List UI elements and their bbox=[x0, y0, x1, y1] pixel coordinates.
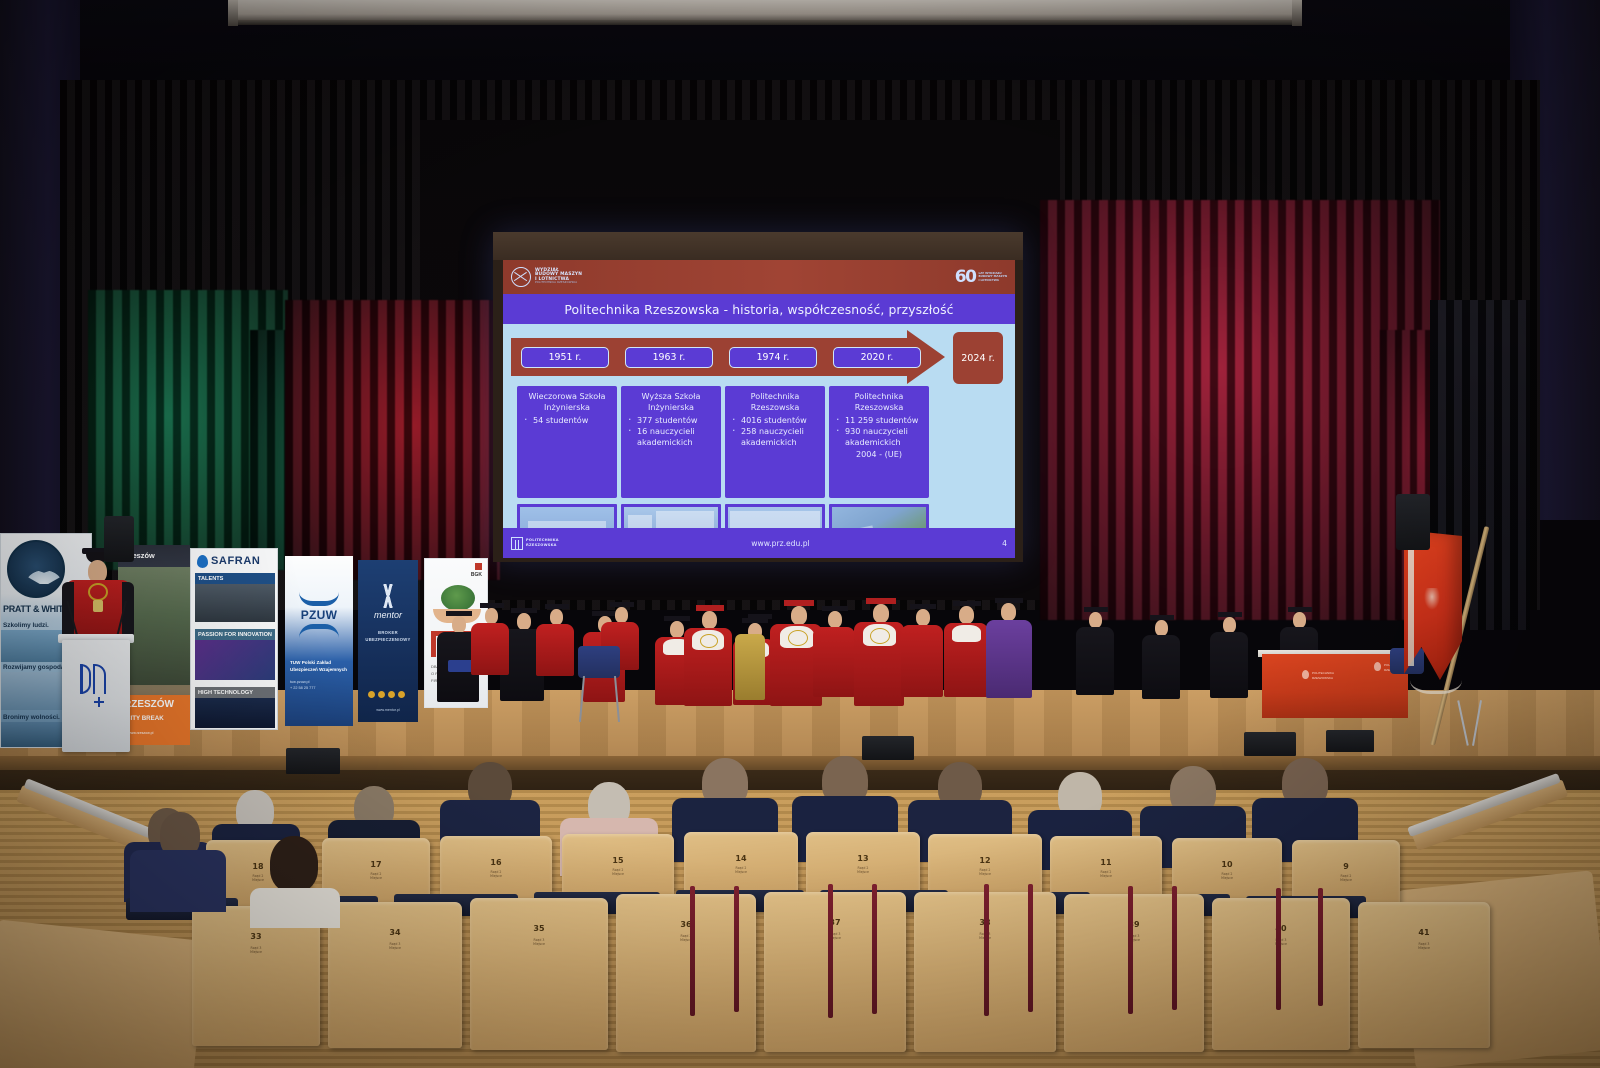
bgk-square-icon bbox=[475, 563, 482, 570]
pzuw-arc-top-icon bbox=[299, 592, 339, 606]
prz-logo-p bbox=[80, 664, 91, 694]
seat-39[interactable]: 39 Rząd 3Miejsce bbox=[1064, 894, 1204, 1052]
stage-monitor-4 bbox=[1326, 730, 1374, 752]
stage-speaker-column bbox=[104, 516, 134, 562]
timeline-box-1-title: Wieczorowa SzkołaInżynierska bbox=[521, 391, 613, 412]
seat-sub-label: Rząd 2Miejsce bbox=[1050, 870, 1162, 878]
timeline-year-1951: 1951 r. bbox=[521, 347, 609, 368]
seat-sash bbox=[1276, 888, 1281, 1010]
audience-body-ponytail bbox=[250, 888, 340, 928]
safran-caption-1: TALENTS bbox=[195, 573, 275, 584]
timeline-box-2: Wyższa SzkołaInżynierska 377 studentów 1… bbox=[621, 386, 721, 498]
slide-footer-url: www.prz.edu.pl bbox=[559, 539, 1002, 548]
stage-curtain-red-left bbox=[285, 300, 500, 580]
seat-number: 13 bbox=[806, 854, 920, 863]
seat-sash bbox=[1318, 888, 1323, 1006]
list-item: 258 nauczycieli akademickich bbox=[729, 426, 821, 448]
pratt-whitney-line-3: Bronimy wolności. bbox=[3, 714, 60, 721]
projection-screen-top-bar bbox=[493, 232, 1023, 260]
university-logo-text: POLITECHNIKA RZESZOWSKA bbox=[526, 538, 559, 548]
seat-sub-label: Rząd 3Miejsce bbox=[470, 938, 608, 946]
seat-number: 35 bbox=[470, 924, 608, 933]
timeline-year-1974: 1974 r. bbox=[729, 347, 817, 368]
timeline-year-2024: 2024 r. bbox=[953, 332, 1003, 384]
seated-dignitary-yellow-robe bbox=[735, 634, 765, 700]
chain-of-office-medallion bbox=[93, 600, 103, 612]
ceiling-slot-right bbox=[1292, 0, 1302, 26]
stage-monitor-3 bbox=[1244, 732, 1296, 756]
stage-table-cloth: POLITECHNIKARZESZOWSKA POLITECHNIKARZESZ… bbox=[1262, 654, 1408, 718]
seat-number: 41 bbox=[1358, 928, 1490, 937]
banner-pzuw: PZUW TUW Polski ZakładUbezpieczeń Wzajem… bbox=[285, 556, 353, 726]
seat-number: 15 bbox=[562, 856, 674, 865]
seat-number: 14 bbox=[684, 854, 798, 863]
facebook-icon bbox=[368, 691, 375, 698]
slide-page-number: 4 bbox=[1002, 539, 1007, 548]
tree-icon bbox=[441, 585, 475, 611]
seat-sub-label: Rząd 2Miejsce bbox=[322, 872, 430, 880]
slide-body: 1951 r. 1963 r. 1974 r. 2020 r. 2024 r. … bbox=[503, 324, 1015, 558]
safran-caption-2: PASSION FOR INNOVATION bbox=[195, 629, 275, 640]
seat-sub-label: Rząd 2Miejsce bbox=[928, 868, 1042, 876]
timeline-box-3: PolitechnikaRzeszowska 4016 studentów 25… bbox=[725, 386, 825, 498]
timeline-year-1963: 1963 r. bbox=[625, 347, 713, 368]
seat-sash bbox=[1172, 886, 1177, 1010]
linkedin-icon bbox=[378, 691, 385, 698]
stage-monitor-1 bbox=[286, 748, 340, 774]
youtube-icon bbox=[388, 691, 395, 698]
presentation-slide: WYDZIAŁ BUDOWY MASZYN I LOTNICTWA POLITE… bbox=[503, 260, 1015, 558]
prz-logo-cross bbox=[94, 697, 104, 707]
seat-number: 9 bbox=[1292, 862, 1400, 871]
safran-image-2 bbox=[195, 640, 275, 680]
list-item: 930 nauczycieli akademickich bbox=[833, 426, 925, 448]
seat-37[interactable]: 37 Rząd 3Miejsce bbox=[764, 892, 906, 1052]
timeline-box-3-title: PolitechnikaRzeszowska bbox=[729, 391, 821, 412]
prz-logo-r bbox=[93, 664, 106, 694]
slide-footer: POLITECHNIKA RZESZOWSKA www.prz.edu.pl 4 bbox=[503, 528, 1015, 558]
list-item: 377 studentów bbox=[625, 415, 717, 426]
university-logo: POLITECHNIKA RZESZOWSKA bbox=[511, 537, 559, 550]
prz-logo-icon bbox=[80, 664, 110, 710]
seat-number: 37 bbox=[764, 918, 906, 927]
banner-mentor: mentor BROKERUBEZPIECZENIOWY www.mentor.… bbox=[358, 560, 418, 722]
seat-sub-label: Rząd 2Miejsce bbox=[562, 868, 674, 876]
side-panel-left bbox=[0, 919, 207, 1068]
banner-safran: SAFRAN TALENTS PASSION FOR INNOVATION HI… bbox=[190, 548, 278, 730]
chain-of-office bbox=[788, 630, 808, 646]
flag-stand bbox=[1462, 700, 1502, 746]
slide-title: Politechnika Rzeszowska - historia, wspó… bbox=[503, 294, 1015, 324]
timeline-box-2-title: Wyższa SzkołaInżynierska bbox=[625, 391, 717, 412]
auditorium-scene: WYDZIAŁ BUDOWY MASZYN I LOTNICTWA POLITE… bbox=[0, 0, 1600, 1068]
timeline-box-4-title: PolitechnikaRzeszowska bbox=[833, 391, 925, 412]
safran-image-3 bbox=[195, 698, 275, 728]
seat-sub-label: Rząd 3Miejsce bbox=[192, 946, 320, 954]
seat-sub-label: Rząd 3Miejsce bbox=[328, 942, 462, 950]
pratt-whitney-emblem-icon bbox=[7, 540, 65, 598]
seat-number: 34 bbox=[328, 928, 462, 937]
safran-brand: SAFRAN bbox=[211, 555, 260, 567]
list-item: 54 studentów bbox=[521, 415, 613, 426]
seat-40[interactable]: 40 Rząd 3Miejsce bbox=[1212, 898, 1350, 1050]
anniversary-line-3: I LOTNICTWA bbox=[978, 279, 1007, 282]
seat-sash bbox=[872, 884, 877, 1014]
slide-header: WYDZIAŁ BUDOWY MASZYN I LOTNICTWA POLITE… bbox=[503, 260, 1015, 294]
pzuw-brand: PZUW bbox=[285, 608, 353, 622]
mentor-url: www.mentor.pl bbox=[358, 708, 418, 712]
mentor-mark-icon bbox=[372, 584, 404, 608]
stage-speaker-column-right bbox=[1396, 494, 1430, 550]
seat-sash bbox=[984, 884, 989, 1016]
ceiling-valance bbox=[236, 0, 1296, 22]
list-item: 11 259 studentów bbox=[833, 415, 925, 426]
flag-trim bbox=[1408, 534, 1414, 666]
pzuw-description: TUW Polski ZakładUbezpieczeń Wzajemnych bbox=[290, 660, 347, 674]
seat-41[interactable]: 41 Rząd 3Miejsce bbox=[1358, 902, 1490, 1048]
seat-sash bbox=[734, 886, 739, 1012]
instagram-icon bbox=[398, 691, 405, 698]
audience-body-foreground bbox=[130, 850, 226, 912]
ceiling-valance-edge bbox=[236, 20, 1296, 25]
seat-sash bbox=[1028, 884, 1033, 1012]
chain-of-office bbox=[700, 634, 718, 648]
seat-sub-label: Rząd 3Miejsce bbox=[1212, 938, 1350, 946]
stage-monitor-2 bbox=[862, 736, 914, 760]
anniversary-text: LAT WYDZIAŁU BUDOWY MASZYN I LOTNICTWA bbox=[978, 272, 1007, 282]
rzeszow-band-title: RZESZÓW bbox=[124, 699, 174, 710]
list-item: 16 nauczycieli akademickich bbox=[625, 426, 717, 448]
flag-fringe bbox=[1410, 660, 1462, 694]
pratt-whitney-line-1: Szkolimy ludzi. bbox=[3, 622, 49, 629]
faculty-sub: POLITECHNIKA RZESZOWSKA bbox=[535, 282, 582, 285]
faculty-emblem-icon bbox=[511, 267, 531, 287]
seat-number: 12 bbox=[928, 856, 1042, 865]
timeline-box-1-list: 54 studentów bbox=[521, 415, 613, 426]
podium bbox=[62, 640, 130, 752]
bgk-brand: BGK bbox=[471, 572, 482, 578]
mentor-sub: BROKERUBEZPIECZENIOWY bbox=[358, 630, 418, 643]
pzuw-contact: tuw.pzuw.pl+ 22 58 25 777 bbox=[290, 680, 315, 691]
seat-sub-label: Rząd 2Miejsce bbox=[1292, 874, 1400, 882]
bgk-accent-bar-vertical bbox=[431, 631, 436, 657]
seat-35[interactable]: 35 Rząd 3Miejsce bbox=[470, 898, 608, 1050]
ceiling-slot-left bbox=[228, 0, 238, 26]
university-line-2: RZESZOWSKA bbox=[526, 543, 559, 548]
seat-sub-label: Rząd 3Miejsce bbox=[764, 932, 906, 940]
seat-sub-label: Rząd 2Miejsce bbox=[1172, 872, 1282, 880]
seat-number: 17 bbox=[322, 860, 430, 869]
seat-sub-label: Rząd 2Miejsce bbox=[440, 870, 552, 878]
seat-sub-label: Rząd 2Miejsce bbox=[806, 866, 920, 874]
mentor-social-icons bbox=[368, 691, 405, 698]
chain-of-office bbox=[88, 583, 108, 601]
seat-sub-label: Rząd 3Miejsce bbox=[1358, 942, 1490, 950]
seat-sub-label: Rząd 3Miejsce bbox=[1064, 934, 1204, 942]
seat-number: 33 bbox=[192, 932, 320, 941]
list-item: 4016 studentów bbox=[729, 415, 821, 426]
timeline-box-4: PolitechnikaRzeszowska 11 259 studentów … bbox=[829, 386, 929, 498]
faculty-logo-text: WYDZIAŁ BUDOWY MASZYN I LOTNICTWA POLITE… bbox=[535, 269, 582, 285]
safran-mark-icon bbox=[197, 555, 208, 568]
speaker-robe-sleeve-left bbox=[62, 582, 74, 640]
seat-number: 11 bbox=[1050, 858, 1162, 867]
seat-number: 16 bbox=[440, 858, 552, 867]
mentor-brand: mentor bbox=[358, 610, 418, 620]
seat-sash bbox=[828, 884, 833, 1018]
timeline-box-3-list: 4016 studentów 258 nauczycieli akademick… bbox=[729, 415, 821, 448]
seat-sash bbox=[690, 886, 695, 1016]
seat-number: 39 bbox=[1064, 920, 1204, 929]
audience-head-ponytail bbox=[270, 836, 318, 892]
anniversary-logo: 60 LAT WYDZIAŁU BUDOWY MASZYN I LOTNICTW… bbox=[955, 267, 1007, 287]
safran-caption-3: HIGH TECHNOLOGY bbox=[195, 687, 275, 698]
empty-chair-center bbox=[578, 646, 620, 678]
faculty-logo: WYDZIAŁ BUDOWY MASZYN I LOTNICTWA POLITE… bbox=[511, 267, 582, 287]
seated-dignitary-9-robe bbox=[986, 620, 1032, 698]
chain-of-office bbox=[870, 628, 890, 644]
rzeszow-band-sub: CITY BREAK bbox=[126, 715, 164, 722]
flag-emblem-icon bbox=[1424, 588, 1440, 610]
pzuw-arc-bottom-icon bbox=[299, 624, 339, 638]
timeline-box-4-note: 2004 - (UE) bbox=[833, 449, 925, 459]
timeline-box-2-list: 377 studentów 16 nauczycieli akademickic… bbox=[625, 415, 717, 448]
seat-sub-label: Rząd 2Miejsce bbox=[684, 866, 798, 874]
seat-34[interactable]: 34 Rząd 3Miejsce bbox=[328, 902, 462, 1048]
eagle-icon bbox=[23, 568, 65, 584]
university-emblem-icon bbox=[511, 537, 523, 550]
seat-sash bbox=[1128, 886, 1133, 1014]
seat-number: 40 bbox=[1212, 924, 1350, 933]
timeline-box-1: Wieczorowa SzkołaInżynierska 54 studentó… bbox=[517, 386, 617, 498]
rzeszow-band-url: www.rzeszow.pl bbox=[128, 731, 153, 735]
seat-number: 10 bbox=[1172, 860, 1282, 869]
timeline-box-4-list: 11 259 studentów 930 nauczycieli akademi… bbox=[833, 415, 925, 448]
anniversary-number: 60 bbox=[955, 267, 976, 287]
safran-image-1 bbox=[195, 584, 275, 622]
timeline-year-2020: 2020 r. bbox=[833, 347, 921, 368]
